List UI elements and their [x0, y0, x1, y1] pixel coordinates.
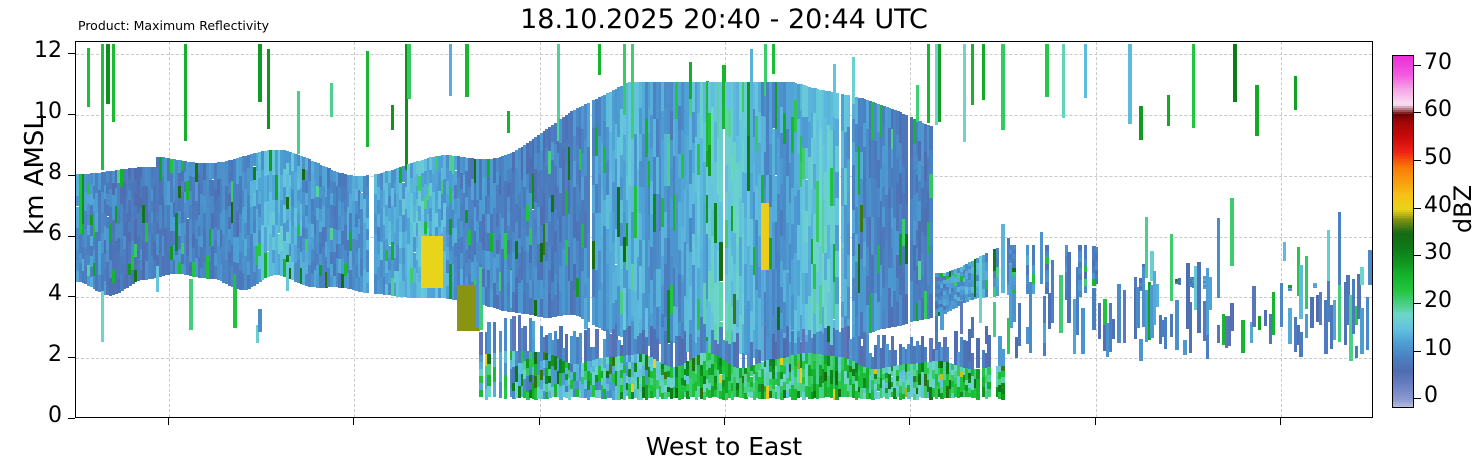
reflectivity-cell — [929, 270, 932, 294]
colorbar-tick-label: 70 — [1424, 50, 1452, 75]
reflectivity-cell — [1183, 340, 1186, 355]
reflectivity-cell — [927, 44, 930, 124]
reflectivity-cell — [366, 283, 369, 294]
reflectivity-cell — [1288, 285, 1291, 288]
reflectivity-cell — [1192, 44, 1195, 128]
reflectivity-cell — [523, 326, 526, 351]
reflectivity-cell — [1078, 245, 1081, 251]
reflectivity-cell — [1139, 339, 1142, 361]
reflectivity-cell — [1134, 277, 1137, 279]
reflectivity-cell — [598, 44, 601, 76]
reflectivity-cell — [1134, 281, 1137, 283]
reflectivity-cell — [1178, 284, 1181, 285]
y-tick-mark — [68, 357, 75, 358]
reflectivity-cell — [366, 218, 369, 229]
reflectivity-cell — [1032, 284, 1035, 294]
reflectivity-cell — [929, 246, 932, 270]
reflectivity-cell — [449, 44, 452, 97]
colorbar-tick-mark — [1414, 255, 1421, 256]
reflectivity-cell — [1368, 250, 1371, 285]
reflectivity-cell — [1175, 300, 1178, 350]
x-tick-mark — [724, 418, 725, 425]
colorbar-band — [1393, 407, 1413, 408]
reflectivity-cell — [258, 309, 261, 332]
reflectivity-cell — [330, 83, 333, 117]
reflectivity-cell — [106, 44, 109, 104]
reflectivity-cell — [366, 197, 369, 208]
reflectivity-cell — [504, 363, 507, 375]
reflectivity-cell — [976, 389, 979, 399]
reflectivity-cell — [719, 242, 722, 282]
reflectivity-cell — [1103, 299, 1106, 326]
reflectivity-cell — [847, 287, 850, 319]
reflectivity-cell — [1123, 290, 1126, 343]
reflectivity-cell — [1078, 257, 1081, 263]
reflectivity-cell — [1018, 303, 1021, 346]
page-title: 18.10.2025 20:40 - 20:44 UTC — [75, 4, 1373, 35]
y-tick-mark — [68, 418, 75, 419]
reflectivity-cell — [1078, 251, 1081, 257]
x-tick-mark — [1095, 418, 1096, 425]
reflectivity-cell — [1366, 297, 1369, 349]
reflectivity-cell — [1117, 284, 1120, 343]
reflectivity-cell — [1001, 383, 1004, 389]
reflectivity-cell — [407, 44, 410, 100]
reflectivity-cell — [1217, 218, 1220, 298]
reflectivity-cell — [905, 264, 908, 294]
reflectivity-cell — [1012, 245, 1015, 249]
reflectivity-cell — [835, 304, 838, 330]
reflectivity-cell — [1283, 242, 1286, 262]
reflectivity-cell — [1059, 275, 1062, 333]
reflectivity-cell — [1310, 297, 1313, 328]
reflectivity-cell — [1178, 278, 1181, 279]
colorbar — [1392, 55, 1414, 408]
reflectivity-cell — [987, 389, 990, 396]
reflectivity-cell — [996, 277, 999, 287]
reflectivity-cell — [1178, 283, 1181, 284]
reflectivity-cell — [996, 258, 999, 268]
colorbar-tick-label: 0 — [1424, 383, 1438, 408]
y-tick-mark — [68, 175, 75, 176]
reflectivity-cell — [985, 262, 988, 271]
reflectivity-cell — [1327, 230, 1330, 281]
reflectivity-cell — [1084, 266, 1087, 273]
reflectivity-cell — [512, 316, 515, 351]
reflectivity-cell — [847, 127, 850, 159]
reflectivity-cell — [1252, 286, 1255, 327]
reflectivity-cell — [587, 147, 590, 191]
reflectivity-cell — [847, 95, 850, 127]
reflectivity-cell — [487, 354, 490, 365]
x-tick-mark — [539, 418, 540, 425]
reflectivity-cell — [929, 222, 932, 246]
reflectivity-cell — [905, 145, 908, 175]
reflectivity-cell — [1178, 279, 1181, 280]
colorbar-tick-label: 30 — [1424, 240, 1452, 265]
reflectivity-cell — [587, 103, 590, 147]
reflectivity-cell — [1084, 259, 1087, 266]
reflectivity-cell — [719, 162, 722, 202]
reflectivity-cell — [1032, 265, 1035, 275]
reflectivity-cell — [465, 44, 468, 97]
reflectivity-cell — [1178, 282, 1181, 283]
reflectivity-cell — [1095, 261, 1098, 266]
y-tick-label: 0 — [48, 403, 62, 428]
product-label: Product: Maximum Reflectivity — [78, 18, 269, 33]
reflectivity-cell — [101, 44, 104, 171]
reflectivity-cell — [1084, 245, 1087, 252]
y-tick-label: 12 — [34, 38, 62, 63]
reflectivity-cell — [1012, 285, 1015, 289]
reflectivity-cell — [504, 387, 507, 399]
reflectivity-cell — [971, 44, 974, 106]
reflectivity-cell — [670, 341, 673, 366]
reflectivity-cell — [1156, 284, 1159, 307]
reflectivity-cell — [1189, 302, 1192, 353]
reflectivity-cell — [938, 44, 941, 122]
reflectivity-cell — [487, 386, 490, 397]
reflectivity-cell — [847, 191, 850, 223]
reflectivity-cell — [1095, 252, 1098, 257]
reflectivity-cell — [1001, 44, 1004, 130]
reflectivity-cell — [1065, 245, 1068, 250]
reflectivity-cell — [1067, 252, 1070, 323]
x-axis-label: West to East — [75, 432, 1373, 461]
reflectivity-cell — [595, 329, 598, 359]
reflectivity-cell — [1051, 260, 1054, 323]
reflectivity-cell — [1294, 76, 1297, 110]
reflectivity-cell — [929, 174, 932, 198]
colorbar-tick-label: 60 — [1424, 97, 1452, 122]
reflectivity-cell — [835, 277, 838, 303]
reflectivity-cell — [1078, 274, 1081, 280]
reflectivity-cell — [504, 318, 507, 351]
reflectivity-cell — [258, 44, 261, 102]
reflectivity-cell — [1012, 293, 1015, 322]
reflectivity-cell — [1095, 247, 1098, 252]
colorbar-tick-mark — [1414, 112, 1421, 113]
reflectivity-cell — [976, 338, 979, 368]
reflectivity-cell — [504, 375, 507, 387]
reflectivity-cell — [987, 382, 990, 389]
reflectivity-cell — [493, 353, 496, 368]
reflectivity-cell — [479, 362, 482, 369]
reflectivity-cell — [1139, 106, 1142, 139]
reflectivity-cell — [1208, 277, 1211, 310]
reflectivity-cell — [366, 208, 369, 219]
reflectivity-cell — [929, 126, 932, 150]
reflectivity-cell — [587, 191, 590, 235]
reflectivity-cell — [1001, 389, 1004, 395]
reflectivity-cell — [1001, 366, 1004, 372]
colorbar-tick-mark — [1414, 65, 1421, 66]
reflectivity-cell — [1040, 232, 1043, 284]
reflectivity-cell — [905, 204, 908, 234]
reflectivity-cell — [1001, 377, 1004, 383]
reflectivity-cell — [487, 322, 490, 353]
reflectivity-cell — [1272, 292, 1275, 335]
reflectivity-cell — [1338, 212, 1341, 285]
reflectivity-cell — [1001, 371, 1004, 377]
reflectivity-cell — [101, 291, 104, 343]
reflectivity-cell — [982, 44, 985, 101]
reflectivity-cell — [1078, 262, 1081, 268]
reflectivity-cell — [1280, 283, 1283, 327]
reflectivity-cell — [112, 44, 115, 122]
reflectivity-cell — [835, 93, 838, 119]
reflectivity-cell — [1012, 272, 1015, 276]
reflectivity-cell — [1078, 291, 1081, 297]
reflectivity-cell — [297, 91, 300, 154]
reflectivity-cell — [1095, 279, 1098, 284]
x-tick-mark — [1280, 418, 1281, 425]
reflectivity-cell — [742, 353, 745, 369]
reflectivity-cell — [366, 250, 369, 261]
reflectivity-cell — [1045, 270, 1048, 276]
colorbar-tick-mark — [1414, 351, 1421, 352]
reflectivity-cell — [905, 115, 908, 145]
reflectivity-cell — [1299, 332, 1302, 357]
reflectivity-cell — [579, 333, 582, 364]
reflectivity-cell — [847, 159, 850, 191]
reflectivity-cell — [479, 332, 482, 355]
reflectivity-cell — [1197, 262, 1200, 333]
reflectivity-cell — [366, 51, 369, 147]
reflectivity-cell — [1264, 310, 1267, 326]
x-tick-mark — [353, 418, 354, 425]
reflectivity-cell — [87, 48, 90, 107]
reflectivity-cell — [719, 202, 722, 242]
colorbar-tick-mark — [1414, 398, 1421, 399]
reflectivity-cell — [1078, 286, 1081, 292]
reflectivity-cell — [1230, 303, 1233, 331]
x-tick-mark — [168, 418, 169, 425]
y-tick-label: 6 — [48, 221, 62, 246]
reflectivity-cell — [366, 272, 369, 283]
reflectivity-cell — [1170, 314, 1173, 338]
reflectivity-cell — [987, 335, 990, 368]
reflectivity-cell — [504, 351, 507, 363]
reflectivity-cell — [996, 267, 999, 277]
reflectivity-cell — [1170, 234, 1173, 301]
reflectivity-cell — [971, 353, 974, 369]
reflectivity-cell — [1167, 95, 1170, 125]
reflectivity-cell — [1305, 256, 1308, 308]
reflectivity-cell — [1084, 279, 1087, 286]
reflectivity-cell — [587, 278, 590, 322]
reflectivity-cell — [772, 44, 775, 75]
reflectivity-cell — [1333, 300, 1336, 340]
reflectivity-cell — [835, 146, 838, 172]
reflectivity-cell — [1084, 286, 1087, 293]
radar-cross-section-figure: 18.10.2025 20:40 - 20:44 UTC Product: Ma… — [0, 0, 1482, 470]
reflectivity-cell — [1012, 259, 1015, 263]
reflectivity-cell — [987, 375, 990, 382]
reflectivity-cell — [493, 382, 496, 397]
reflectivity-cell — [905, 175, 908, 205]
reflectivity-cell — [366, 175, 369, 186]
reflectivity-cell — [1012, 281, 1015, 285]
reflectivity-cell — [391, 105, 394, 129]
colorbar-tick-mark — [1414, 160, 1421, 161]
reflectivity-cell — [1288, 308, 1291, 344]
reflectivity-cell — [1178, 281, 1181, 282]
reflectivity-cell — [366, 261, 369, 272]
reflectivity-cell — [1084, 44, 1087, 98]
colorbar-tick-label: 40 — [1424, 193, 1452, 218]
reflectivity-cell — [976, 379, 979, 389]
reflectivity-cell — [905, 234, 908, 264]
reflectivity-cell — [1045, 257, 1048, 263]
reflectivity-cell — [1012, 276, 1015, 280]
colorbar-tick-mark — [1414, 208, 1421, 209]
reflectivity-cell — [479, 376, 482, 383]
reflectivity-cell — [985, 271, 988, 280]
reflectivity-cell — [1319, 292, 1322, 324]
y-tick-mark — [68, 236, 75, 237]
reflectivity-cell — [835, 172, 838, 198]
reflectivity-cell — [1012, 268, 1015, 272]
reflectivity-cell — [479, 369, 482, 376]
reflectivity-cell — [1081, 308, 1084, 354]
reflectivity-cell — [993, 302, 996, 337]
reflectivity-cell — [1001, 349, 1004, 366]
reflectivity-cell — [916, 85, 919, 122]
reflectivity-cell — [893, 350, 896, 366]
reflectivity-cell — [1084, 272, 1087, 279]
reflectivity-cell — [1045, 276, 1048, 282]
reflectivity-cell — [479, 355, 482, 362]
reflectivity-cell — [532, 321, 535, 340]
reflectivity-cell — [1001, 394, 1004, 400]
reflectivity-cell — [479, 383, 482, 390]
reflectivity-cell — [971, 317, 974, 338]
reflectivity-cell — [1095, 256, 1098, 261]
reflectivity-cell — [1026, 245, 1029, 255]
reflectivity-cell — [1078, 268, 1081, 274]
reflectivity-cell — [1233, 44, 1236, 103]
reflectivity-cell — [1001, 224, 1004, 292]
reflectivity-cell — [1045, 282, 1048, 288]
reflectivity-cell — [487, 375, 490, 386]
reflectivity-cell — [587, 234, 590, 278]
reflectivity-cell — [1045, 44, 1048, 98]
reflectivity-cell — [835, 251, 838, 277]
reflectivity-cell — [987, 367, 990, 374]
reflectivity-cell — [985, 253, 988, 262]
reflectivity-cell — [1360, 267, 1363, 286]
reflectivity-cell — [366, 240, 369, 251]
reflectivity-cell — [719, 282, 722, 322]
reflectivity-cell — [1313, 283, 1316, 284]
y-tick-label: 8 — [48, 160, 62, 185]
reflectivity-cell — [929, 294, 932, 318]
reflectivity-cell — [1299, 265, 1302, 319]
reflectivity-cell — [499, 367, 502, 382]
reflectivity-cell — [366, 186, 369, 197]
reflectivity-cell — [189, 279, 192, 330]
reflectivity-cell — [985, 280, 988, 289]
reflectivity-cell — [1095, 270, 1098, 275]
reflectivity-cell — [1045, 251, 1048, 257]
reflectivity-cell — [905, 294, 908, 324]
reflectivity-cell — [1136, 287, 1139, 328]
y-tick-label: 2 — [48, 342, 62, 367]
colorbar-tick-label: 20 — [1424, 288, 1452, 313]
reflectivity-cell — [963, 44, 966, 143]
reflectivity-cell — [1045, 264, 1048, 270]
reflectivity-cell — [1062, 44, 1065, 119]
reflectivity-cell — [996, 248, 999, 258]
reflectivity-cell — [366, 229, 369, 240]
y-tick-label: 4 — [48, 281, 62, 306]
reflectivity-cell — [929, 198, 932, 222]
reflectivity-cell — [1305, 314, 1308, 337]
reflectivity-cell — [1112, 319, 1115, 339]
reflectivity-cell — [924, 347, 927, 362]
plot-area — [75, 41, 1373, 418]
reflectivity-cell — [1217, 325, 1220, 343]
reflectivity-cell — [1255, 85, 1258, 136]
reflectivity-cell — [1355, 346, 1358, 358]
reflectivity-cell — [847, 223, 850, 255]
reflectivity-cell — [1032, 255, 1035, 265]
reflectivity-cell — [835, 198, 838, 224]
reflectivity-cell — [1045, 245, 1048, 251]
reflectivity-cell — [1026, 255, 1029, 265]
reflectivity-cell — [493, 367, 496, 382]
reflectivity-cell — [1360, 308, 1363, 354]
reflectivity-cell — [499, 331, 502, 351]
reflectivity-cell — [929, 150, 932, 174]
reflectivity-cell — [1098, 303, 1101, 340]
reflectivity-cell — [1012, 250, 1015, 254]
y-tick-mark — [68, 53, 75, 54]
reflectivity-cell — [835, 225, 838, 251]
reflectivity-cell — [487, 364, 490, 375]
reflectivity-cell — [1095, 275, 1098, 280]
reflectivity-cell — [1012, 254, 1015, 258]
reflectivity-cell — [565, 334, 568, 362]
reflectivity-cell — [1178, 280, 1181, 281]
reflectivity-cell — [976, 369, 979, 379]
reflectivity-cell — [267, 49, 270, 130]
reflectivity-cell — [479, 390, 482, 397]
reflectivity-cell — [499, 382, 502, 397]
reflectivity-cell — [996, 287, 999, 297]
colorbar-band — [1393, 56, 1413, 59]
colorbar-tick-label: 10 — [1424, 336, 1452, 361]
reflectivity-cell — [1084, 252, 1087, 259]
reflectivity-cell — [1043, 323, 1046, 343]
colorbar-tick-label: 50 — [1424, 145, 1452, 170]
reflectivity-cell — [499, 352, 502, 367]
reflectivity-cell — [1134, 279, 1137, 281]
y-tick-label: 10 — [34, 99, 62, 124]
reflectivity-cell — [1128, 44, 1131, 125]
reflectivity-cell — [1078, 280, 1081, 286]
y-tick-mark — [68, 296, 75, 297]
reflectivity-cell — [946, 347, 949, 362]
x-tick-mark — [909, 418, 910, 425]
y-tick-mark — [68, 114, 75, 115]
reflectivity-cell — [1258, 316, 1261, 330]
reflectivity-cell — [847, 255, 850, 287]
reflectivity-cell — [184, 44, 187, 141]
reflectivity-cell — [1092, 288, 1095, 330]
reflectivity-cell — [1134, 283, 1137, 285]
